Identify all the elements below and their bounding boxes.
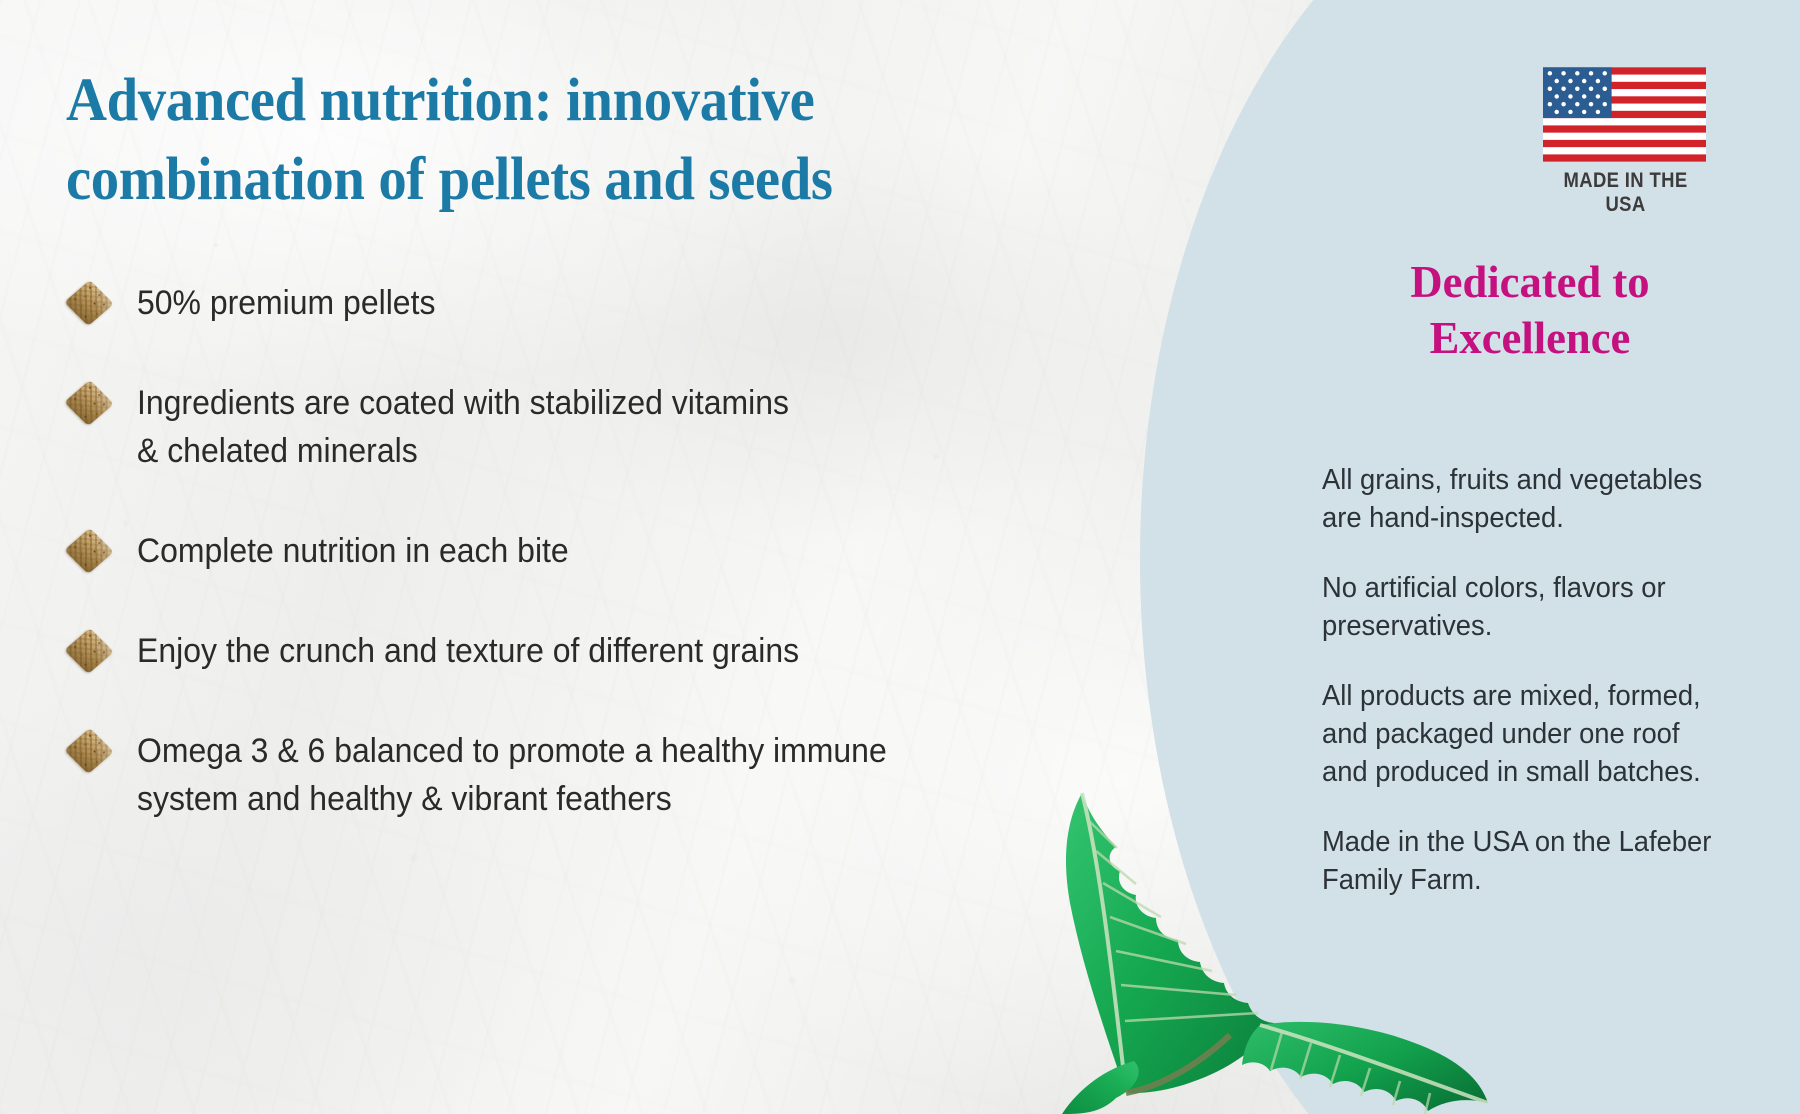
made-in-usa-caption: MADE IN THE USA bbox=[1553, 169, 1698, 217]
panel-paragraph: No artificial colors, flavors or preserv… bbox=[1322, 570, 1723, 645]
pellet-cube-icon bbox=[66, 628, 114, 676]
infographic-canvas: Advanced nutrition: innovative combinati… bbox=[0, 0, 1800, 1114]
panel-paragraph: Made in the USA on the Lafeber Family Fa… bbox=[1322, 824, 1723, 899]
made-in-usa-badge: MADE IN THE USA bbox=[1543, 67, 1708, 217]
pellet-cube-icon bbox=[66, 380, 114, 428]
pellet-cube-icon bbox=[66, 728, 114, 776]
headline-block: Advanced nutrition: innovative combinati… bbox=[66, 62, 966, 219]
list-item-label: Omega 3 & 6 balanced to promote a health… bbox=[137, 726, 887, 824]
list-item: Enjoy the crunch and texture of differen… bbox=[66, 626, 966, 676]
panel-paragraph: All grains, fruits and vegetables are ha… bbox=[1322, 462, 1723, 537]
page-title: Advanced nutrition: innovative combinati… bbox=[66, 62, 903, 219]
list-item-label: Complete nutrition in each bite bbox=[137, 526, 569, 575]
panel-paragraph-list: All grains, fruits and vegetables are ha… bbox=[1322, 462, 1740, 899]
list-item-label: Ingredients are coated with stabilized v… bbox=[137, 378, 789, 476]
panel-heading: Dedicated to Excellence bbox=[1336, 254, 1724, 366]
usa-flag-icon bbox=[1543, 67, 1706, 162]
feature-bullet-list: 50% premium pellets Ingredients are coat… bbox=[66, 278, 966, 823]
list-item: 50% premium pellets bbox=[66, 278, 966, 328]
list-item-label: Enjoy the crunch and texture of differen… bbox=[137, 626, 799, 675]
panel-paragraph: All products are mixed, formed, and pack… bbox=[1322, 678, 1723, 791]
list-item: Complete nutrition in each bite bbox=[66, 526, 966, 576]
list-item: Omega 3 & 6 balanced to promote a health… bbox=[66, 726, 966, 824]
pellet-cube-icon bbox=[66, 528, 114, 576]
list-item-label: 50% premium pellets bbox=[137, 278, 435, 327]
list-item: Ingredients are coated with stabilized v… bbox=[66, 378, 966, 476]
pellet-cube-icon bbox=[66, 280, 114, 328]
